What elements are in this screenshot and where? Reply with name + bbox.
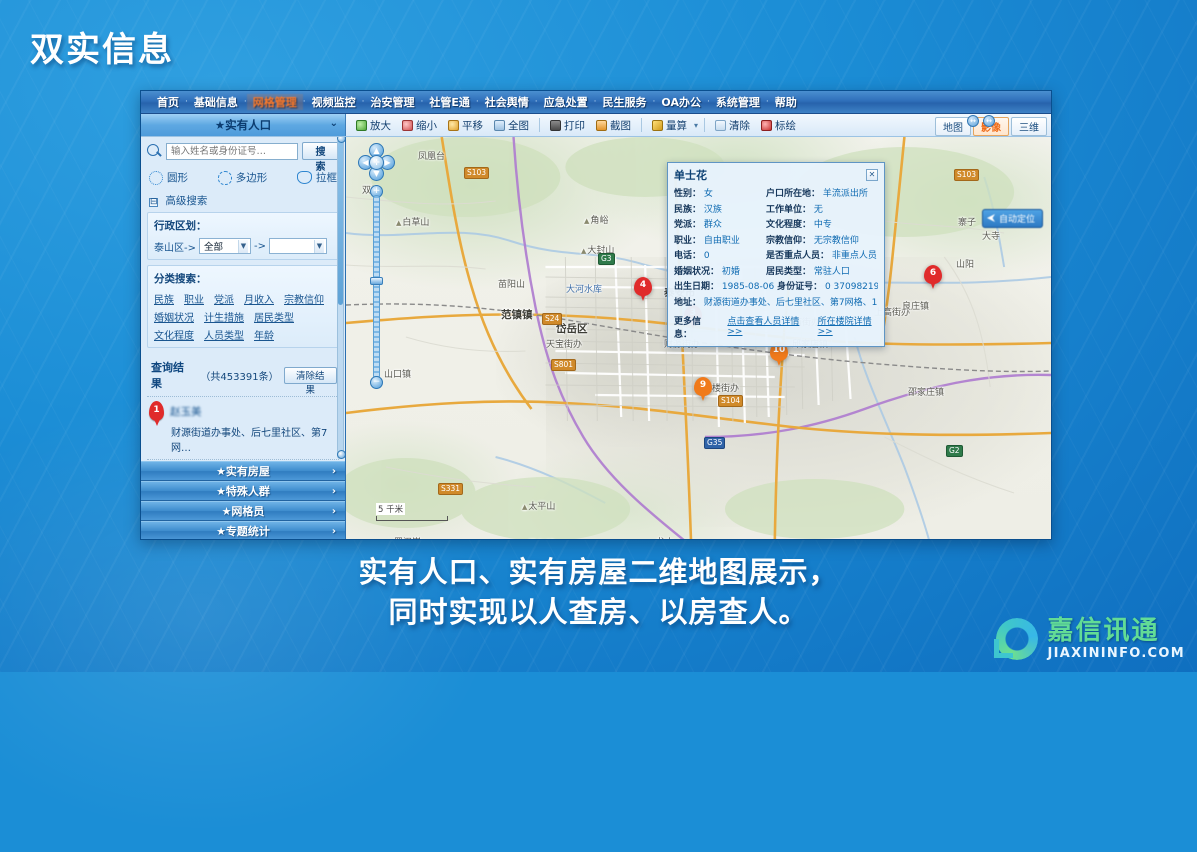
company-logo: 嘉信讯通 JIAXININFO.COM xyxy=(994,616,1185,662)
toolbar-row: ★实有人口 ⌄ 放大缩小平移全图打印截图量算▾清除标绘 地图影像三维 ↔ ↔ xyxy=(141,114,1051,137)
popup-building-detail-link[interactable]: 所在楼院详情>> xyxy=(818,314,878,340)
nav-item-11[interactable]: 系统管理 xyxy=(710,94,766,110)
toolbar-button-label: 放大 xyxy=(370,118,391,133)
popup-header: 单士花 ✕ xyxy=(674,167,878,183)
category-link-6[interactable]: 婚姻状况 xyxy=(154,309,194,324)
toolbar-button-screenshot[interactable]: 截图 xyxy=(592,117,635,134)
popup-field-label: 户口所在地： xyxy=(766,189,820,199)
category-link-3[interactable]: 党派 xyxy=(214,291,234,306)
chevron-right-icon[interactable]: › xyxy=(332,486,336,497)
map-canvas[interactable]: 凤凰台双岭白草山角峪大封山苗阳山大河水库范镇镇泰安市岱岳区天宝街办财源街办邱家店… xyxy=(346,137,1051,540)
category-link-5[interactable]: 宗教信仰 xyxy=(284,291,324,306)
nav-item-6[interactable]: 社管E通 xyxy=(423,94,476,110)
region-filter-title: 行政区划： xyxy=(154,218,332,233)
popup-address-label: 地址： xyxy=(674,298,701,308)
popup-field-label: 宗教信仰： xyxy=(766,236,811,246)
polygon-select-label: 多边形 xyxy=(236,170,268,185)
toolbar-button-label: 清除 xyxy=(729,118,750,133)
nav-item-5[interactable]: 治安管理 xyxy=(365,94,421,110)
result-list: 1赵玉美财源街道办事处、后七里社区、第7网…2刘娜财源街道办事处、后七里社区、第… xyxy=(147,396,339,461)
popup-field: 是否重点人员： 非重点人员 xyxy=(766,248,878,261)
nav-item-3[interactable]: 网格管理 xyxy=(247,94,303,110)
logo-text: 嘉信讯通 JIAXININFO.COM xyxy=(1047,618,1185,660)
popup-field-value: 非重点人员 xyxy=(832,251,877,261)
toolbar-button-zoom-out[interactable]: 缩小 xyxy=(398,117,441,134)
panel-scroll-area: 搜索 圆形 多边形 拉框 xyxy=(141,137,345,461)
map-road-shield: S801 xyxy=(551,359,576,371)
accordion-item-label: ★特殊人群 xyxy=(216,483,270,499)
popup-field-label: 职业： xyxy=(674,236,701,246)
nav-item-4[interactable]: 视频监控 xyxy=(306,94,362,110)
popup-field: 性别： 女 xyxy=(674,186,766,199)
result-summary-row: 查询结果 （共453391条） 清除结果 xyxy=(147,353,339,396)
person-info-popup: 单士花 ✕ 性别： 女户口所在地： 羊流派出所民族： 汉族工作单位： 无党派： … xyxy=(667,162,885,347)
map-layer-1[interactable]: 地图 xyxy=(935,117,971,136)
popup-address-value: 财源街道办事处、后七里社区、第7网格、1… xyxy=(704,298,878,308)
zoom-out-icon[interactable]: − xyxy=(370,376,383,389)
result-person-name[interactable]: 赵玉美 xyxy=(170,404,202,419)
toolbar-divider xyxy=(704,118,705,132)
clear-results-button[interactable]: 清除结果 xyxy=(284,367,338,384)
region-select-1-value: 全部 xyxy=(204,239,223,253)
nav-item-12[interactable]: 帮助 xyxy=(769,94,803,110)
auto-locate-badge[interactable]: 自动定位 xyxy=(982,209,1043,228)
caption-line-1: 实有人口、实有房屋二维地图展示， xyxy=(0,552,1197,592)
expand-collapse-icon: ⊟ xyxy=(149,198,158,207)
region-arrow-label: -> xyxy=(254,241,266,252)
accordion-item-label: ★实有房屋 xyxy=(216,463,270,479)
application-window: 首页·基础信息·网格管理·视频监控·治安管理·社管E通·社会舆情·应急处置·民生… xyxy=(140,90,1052,540)
shape-select-tools: 圆形 多边形 拉框 xyxy=(147,166,339,191)
window-control-icons: ↔ ↔ xyxy=(967,115,995,127)
nav-item-9[interactable]: 民生服务 xyxy=(597,94,653,110)
category-link-2[interactable]: 职业 xyxy=(184,291,204,306)
nav-item-10[interactable]: OA办公 xyxy=(655,94,707,110)
pan-center-icon[interactable]: ✛ xyxy=(369,155,384,170)
clear-icon xyxy=(715,120,726,131)
main-navigation: 首页·基础信息·网格管理·视频监控·治安管理·社管E通·社会舆情·应急处置·民生… xyxy=(141,91,1051,114)
popup-person-detail-link[interactable]: 点击查看人员详情>> xyxy=(727,314,803,340)
accordion-item-label: ★网格员 xyxy=(222,503,265,519)
map-road-shield: S103 xyxy=(464,167,489,179)
nav-item-2[interactable]: 基础信息 xyxy=(188,94,244,110)
map-zoom-slider[interactable]: + − xyxy=(370,185,383,385)
region-filter-box: 行政区划： 泰山区-> 全部 ▼ -> ▼ xyxy=(147,212,339,260)
result-title: 查询结果 xyxy=(151,359,194,391)
map-road-shield: S24 xyxy=(542,313,562,325)
toolbar-button-label: 截图 xyxy=(610,118,631,133)
region-filter-row: 泰山区-> 全部 ▼ -> ▼ xyxy=(154,238,332,254)
popup-field: 宗教信仰： 无宗教信仰 xyxy=(766,233,878,246)
popup-field-value: 无 xyxy=(814,205,823,215)
zoom-slider-track[interactable] xyxy=(373,195,380,379)
map-scale-label: 5 千米 xyxy=(376,503,405,515)
popup-address-row: 地址： 财源街道办事处、后七里社区、第7网格、1… xyxy=(674,295,878,308)
map-road-shield: S104 xyxy=(718,395,743,407)
map-pan-control[interactable]: ▲ ▼ ◀ ▶ ✛ xyxy=(359,145,395,181)
panel-header-real-population[interactable]: ★实有人口 ⌄ xyxy=(141,114,346,136)
map-road-shield: G35 xyxy=(704,437,725,449)
toolbar-button-pan[interactable]: 平移 xyxy=(444,117,487,134)
rect-select-label: 拉框 xyxy=(316,170,337,185)
accordion-item-4[interactable]: ★专题统计› xyxy=(141,521,345,540)
circle-select-tool[interactable]: 圆形 xyxy=(149,170,188,185)
category-filter-title: 分类搜索： xyxy=(154,271,332,286)
popup-id-value: 0 370982198508061423 xyxy=(825,282,878,292)
popup-field-value: 女 xyxy=(704,189,713,199)
accordion-item-label: ★专题统计 xyxy=(216,523,270,539)
popup-field: 文化程度： 中专 xyxy=(766,217,878,230)
toolbar-button-measure[interactable]: 量算 xyxy=(648,117,691,134)
chevron-down-icon[interactable]: ▼ xyxy=(238,240,248,253)
toolbar-button-label: 打印 xyxy=(564,118,585,133)
category-links: 民族职业党派月收入宗教信仰婚姻状况计生措施居民类型文化程度人员类型年龄 xyxy=(154,291,332,342)
category-link-11[interactable]: 年龄 xyxy=(254,327,274,342)
category-link-9[interactable]: 文化程度 xyxy=(154,327,194,342)
accordion-item-3[interactable]: ★网格员› xyxy=(141,501,345,521)
popup-field: 居民类型： 常驻人口 xyxy=(766,264,878,277)
toolbar-divider xyxy=(539,118,540,132)
rect-select-tool[interactable]: 拉框 xyxy=(297,170,337,185)
map-marker-number: 4 xyxy=(634,280,652,290)
logo-mark-icon xyxy=(994,616,1040,662)
popup-field-label: 民族： xyxy=(674,205,701,215)
result-pin-icon: 1 xyxy=(149,401,164,421)
popup-more-label: 更多信息： xyxy=(674,314,713,340)
zoom-out-icon xyxy=(402,120,413,131)
zoom-in-icon xyxy=(356,120,367,131)
polygon-select-icon xyxy=(218,171,232,185)
category-link-4[interactable]: 月收入 xyxy=(244,291,274,306)
left-search-panel: 搜索 圆形 多边形 拉框 xyxy=(141,137,346,540)
accordion-item-1[interactable]: ★实有房屋› xyxy=(141,461,345,481)
logo-name-en: JIAXININFO.COM xyxy=(1047,647,1185,660)
popup-birth-label: 出生日期： xyxy=(674,282,719,292)
popup-field-value: 羊流派出所 xyxy=(823,189,868,199)
popup-field-label: 电话： xyxy=(674,251,701,261)
toolbar-button-full-extent[interactable]: 全图 xyxy=(490,117,533,134)
map-road-shield: S103 xyxy=(954,169,979,181)
minimize-icon[interactable]: ↔ xyxy=(967,115,979,127)
panel-accordion: ★实有房屋›★特殊人群›★网格员›★专题统计› xyxy=(141,461,345,540)
category-link-7[interactable]: 计生措施 xyxy=(204,309,244,324)
toolbar-button-label: 标绘 xyxy=(775,118,796,133)
popup-field-label: 是否重点人员： xyxy=(766,251,829,261)
toolbar-button-label: 全图 xyxy=(508,118,529,133)
popup-field-value: 自由职业 xyxy=(704,236,740,246)
panel-header-label: ★实有人口 xyxy=(215,117,271,133)
category-filter-box: 分类搜索： 民族职业党派月收入宗教信仰婚姻状况计生措施居民类型文化程度人员类型年… xyxy=(147,265,339,348)
application-body: 搜索 圆形 多边形 拉框 xyxy=(141,137,1051,540)
category-link-10[interactable]: 人员类型 xyxy=(204,327,244,342)
page-title: 双实信息 xyxy=(30,22,174,71)
popup-field-value: 0 xyxy=(704,251,710,261)
popup-field-value: 汉族 xyxy=(704,205,722,215)
popup-field: 户口所在地： 羊流派出所 xyxy=(766,186,878,199)
polygon-select-tool[interactable]: 多边形 xyxy=(218,170,268,185)
popup-field-label: 党派： xyxy=(674,220,701,230)
search-button[interactable]: 搜索 xyxy=(302,142,339,160)
map-layer-3[interactable]: 三维 xyxy=(1011,117,1047,136)
popup-field: 职业： 自由职业 xyxy=(674,233,766,246)
logo-name-cn: 嘉信讯通 xyxy=(1047,618,1185,644)
map-marker[interactable]: 9 xyxy=(694,377,712,401)
panel-collapse-handle-bottom[interactable] xyxy=(337,450,345,459)
chevron-down-icon[interactable]: ⌄ xyxy=(330,118,338,129)
popup-field-value: 群众 xyxy=(704,220,722,230)
map-scale-ruler xyxy=(376,516,448,521)
full-extent-icon xyxy=(494,120,505,131)
popup-field: 民族： 汉族 xyxy=(674,202,766,215)
popup-field-label: 性别： xyxy=(674,189,701,199)
toolbar-button-label: 缩小 xyxy=(416,118,437,133)
rect-select-icon xyxy=(297,171,312,184)
chevron-right-icon[interactable]: › xyxy=(332,466,336,477)
result-person-address: 财源街道办事处、后七里社区、第7网… xyxy=(149,424,337,454)
popup-field-label: 工作单位： xyxy=(766,205,811,215)
zoom-slider-thumb[interactable] xyxy=(370,277,383,285)
popup-field: 婚姻状况： 初婚 xyxy=(674,264,766,277)
popup-field: 党派： 群众 xyxy=(674,217,766,230)
chevron-down-icon[interactable]: ▼ xyxy=(314,240,324,253)
popup-field-label: 婚姻状况： xyxy=(674,267,719,277)
panel-collapse-handle-top[interactable] xyxy=(337,137,345,143)
print-icon xyxy=(550,120,561,131)
map-marker-number: 6 xyxy=(924,268,942,278)
popup-title: 单士花 xyxy=(674,167,707,183)
screenshot-icon xyxy=(596,120,607,131)
circle-select-label: 圆形 xyxy=(167,170,188,185)
chevron-right-icon[interactable]: › xyxy=(332,526,336,537)
chevron-right-icon[interactable]: › xyxy=(332,506,336,517)
map-road-shield: G2 xyxy=(946,445,963,457)
popup-birth-row: 出生日期： 1985-08-06 身份证号： 0 370982198508061… xyxy=(674,279,878,292)
close-icon[interactable]: ✕ xyxy=(866,169,878,181)
result-item-header: 1赵玉美 xyxy=(149,401,337,421)
popup-more-links: 更多信息： 点击查看人员详情>> 所在楼院详情>> xyxy=(674,314,878,340)
toolbar-button-zoom-in[interactable]: 放大 xyxy=(352,117,395,134)
result-count: （共453391条） xyxy=(200,368,277,383)
panel-scrollbar-thumb[interactable] xyxy=(338,140,343,305)
category-link-8[interactable]: 居民类型 xyxy=(254,309,294,324)
popup-id-label: 身份证号： xyxy=(777,282,822,292)
pan-icon xyxy=(448,120,459,131)
toolbar-button-label: 量算 xyxy=(666,118,687,133)
popup-field-value: 无宗教信仰 xyxy=(814,236,859,246)
popup-field-grid: 性别： 女户口所在地： 羊流派出所民族： 汉族工作单位： 无党派： 群众文化程度… xyxy=(674,186,878,340)
result-item[interactable]: 1赵玉美财源街道办事处、后七里社区、第7网… xyxy=(147,397,339,460)
chevron-down-icon[interactable]: ▾ xyxy=(694,121,698,130)
toolbar-button-label: 平移 xyxy=(462,118,483,133)
map-toolbar: 放大缩小平移全图打印截图量算▾清除标绘 地图影像三维 ↔ ↔ xyxy=(346,114,1051,136)
search-icon xyxy=(147,144,162,159)
nav-item-8[interactable]: 应急处置 xyxy=(538,94,594,110)
draw-icon xyxy=(761,120,772,131)
toolbar-divider xyxy=(641,118,642,132)
map-road-shield: G3 xyxy=(598,253,615,265)
search-row: 搜索 xyxy=(147,142,339,160)
circle-select-icon xyxy=(149,171,163,185)
popup-field: 电话： 0 xyxy=(674,248,766,261)
measure-icon xyxy=(652,120,663,131)
advanced-search-label: 高级搜索 xyxy=(165,195,207,207)
panel-scrollbar[interactable] xyxy=(337,139,344,459)
map-marker-number: 9 xyxy=(694,380,712,390)
region-select-1[interactable]: 全部 ▼ xyxy=(199,238,251,254)
region-select-2[interactable]: ▼ xyxy=(269,238,327,254)
toolbar-button-clear[interactable]: 清除 xyxy=(711,117,754,134)
popup-field: 工作单位： 无 xyxy=(766,202,878,215)
nav-item-7[interactable]: 社会舆情 xyxy=(479,94,535,110)
nav-item-1[interactable]: 首页 xyxy=(151,94,185,110)
toolbar-button-draw[interactable]: 标绘 xyxy=(757,117,800,134)
popup-field-value: 常驻人口 xyxy=(814,267,850,277)
popup-field-value: 中专 xyxy=(814,220,832,230)
map-marker[interactable]: 6 xyxy=(924,265,942,289)
popup-birth-value: 1985-08-06 xyxy=(722,282,774,292)
popup-field-value: 初婚 xyxy=(722,267,740,277)
popup-field-label: 文化程度： xyxy=(766,220,811,230)
result-pin-number: 1 xyxy=(149,401,164,421)
advanced-search-toggle[interactable]: ⊟ 高级搜索 xyxy=(147,191,339,212)
region-prefix-label: 泰山区-> xyxy=(154,239,196,254)
popup-field-label: 居民类型： xyxy=(766,267,811,277)
toolbar-button-print[interactable]: 打印 xyxy=(546,117,589,134)
search-input[interactable] xyxy=(166,143,298,160)
map-road-shield: S331 xyxy=(438,483,463,495)
accordion-item-2[interactable]: ★特殊人群› xyxy=(141,481,345,501)
maximize-icon[interactable]: ↔ xyxy=(983,115,995,127)
map-view[interactable]: 凤凰台双岭白草山角峪大封山苗阳山大河水库范镇镇泰安市岱岳区天宝街办财源街办邱家店… xyxy=(346,137,1051,540)
logo-notch-icon xyxy=(994,639,1013,658)
category-link-1[interactable]: 民族 xyxy=(154,291,174,306)
map-marker[interactable]: 4 xyxy=(634,277,652,301)
map-scale-bar: 5 千米 xyxy=(376,503,448,521)
